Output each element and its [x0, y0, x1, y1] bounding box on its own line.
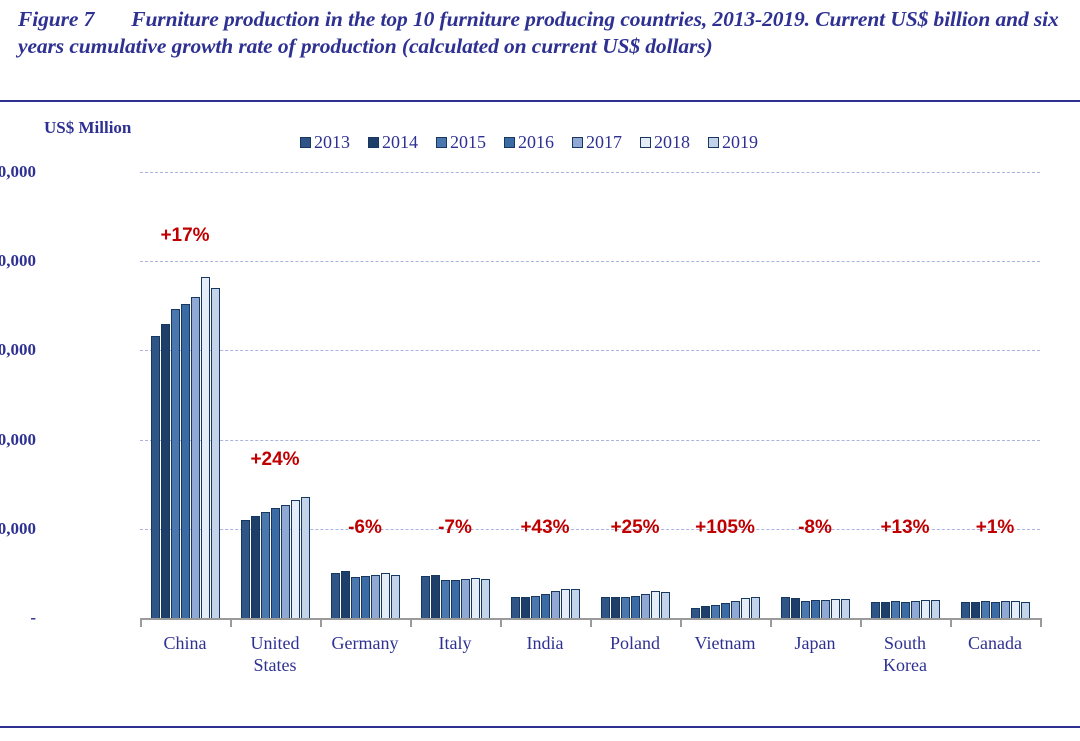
- bar[interactable]: [731, 601, 740, 618]
- x-axis-tick: [500, 618, 502, 627]
- bar[interactable]: [561, 589, 570, 618]
- bar[interactable]: [281, 505, 290, 618]
- legend-label: 2017: [586, 132, 622, 153]
- legend-item-2016[interactable]: 2016: [504, 132, 554, 153]
- legend-swatch-icon-2019: [708, 137, 719, 148]
- growth-rate-label-china: +17%: [160, 225, 209, 247]
- bar[interactable]: [881, 602, 890, 618]
- bar[interactable]: [301, 497, 310, 618]
- bar[interactable]: [621, 597, 630, 618]
- bar[interactable]: [961, 602, 970, 618]
- growth-rate-label-japan: -8%: [798, 517, 832, 539]
- bar[interactable]: [181, 304, 190, 618]
- y-axis-tick-label: -: [0, 608, 36, 628]
- legend-item-2013[interactable]: 2013: [300, 132, 350, 153]
- bar[interactable]: [371, 575, 380, 618]
- bar[interactable]: [441, 580, 450, 618]
- growth-rate-label-united-states: +24%: [250, 449, 299, 471]
- bar[interactable]: [571, 589, 580, 618]
- bar[interactable]: [201, 277, 210, 618]
- bar-group-germany: [320, 172, 410, 618]
- bar[interactable]: [601, 597, 610, 618]
- x-axis-category-label: South Korea: [883, 632, 927, 676]
- legend-label: 2019: [722, 132, 758, 153]
- bar[interactable]: [931, 600, 940, 618]
- legend-item-2017[interactable]: 2017: [572, 132, 622, 153]
- bar[interactable]: [971, 602, 980, 618]
- bar[interactable]: [211, 288, 220, 618]
- bar[interactable]: [361, 576, 370, 618]
- bar[interactable]: [991, 602, 1000, 618]
- x-axis-category-label: China: [164, 632, 207, 654]
- bar[interactable]: [541, 594, 550, 618]
- bar[interactable]: [781, 597, 790, 618]
- legend-label: 2015: [450, 132, 486, 153]
- figure-title-spacer: [94, 7, 131, 31]
- bar[interactable]: [191, 297, 200, 618]
- legend-swatch-icon-2017: [572, 137, 583, 148]
- x-axis-category-label: Japan: [795, 632, 836, 654]
- x-axis-category-label: Canada: [968, 632, 1022, 654]
- x-axis-tick: [320, 618, 322, 627]
- growth-rate-label-vietnam: +105%: [695, 517, 755, 539]
- bar[interactable]: [341, 571, 350, 618]
- y-axis-tick-label: 100,000: [0, 430, 36, 450]
- legend-item-2018[interactable]: 2018: [640, 132, 690, 153]
- bar-group-south-korea: [860, 172, 950, 618]
- figure-title-block: Figure 7 Furniture production in the top…: [18, 6, 1064, 60]
- x-axis-category-label: Italy: [439, 632, 472, 654]
- bar[interactable]: [521, 597, 530, 618]
- bar[interactable]: [261, 512, 270, 618]
- x-axis-tick: [1040, 618, 1042, 627]
- bar[interactable]: [531, 596, 540, 618]
- bar[interactable]: [291, 500, 300, 618]
- legend-label: 2013: [314, 132, 350, 153]
- bar[interactable]: [471, 578, 480, 618]
- bar[interactable]: [631, 596, 640, 618]
- bar[interactable]: [271, 508, 280, 618]
- bar[interactable]: [171, 309, 180, 618]
- y-axis-tick-label: 150,000: [0, 340, 36, 360]
- bar-group-india: [500, 172, 590, 618]
- bar[interactable]: [151, 336, 160, 618]
- legend-swatch-icon-2018: [640, 137, 651, 148]
- y-axis-title: US$ Million: [44, 118, 131, 138]
- growth-rate-label-italy: -7%: [438, 517, 472, 539]
- bar[interactable]: [811, 600, 820, 618]
- legend-swatch-icon-2016: [504, 137, 515, 148]
- bar[interactable]: [651, 591, 660, 618]
- legend-label: 2018: [654, 132, 690, 153]
- bar-group-united-states: [230, 172, 320, 618]
- legend-item-2019[interactable]: 2019: [708, 132, 758, 153]
- bar[interactable]: [391, 575, 400, 618]
- legend-item-2015[interactable]: 2015: [436, 132, 486, 153]
- growth-rate-label-south-korea: +13%: [880, 517, 929, 539]
- bar[interactable]: [661, 592, 670, 618]
- figure-title: Figure 7 Furniture production in the top…: [18, 6, 1064, 60]
- bar[interactable]: [511, 597, 520, 618]
- legend-swatch-icon-2015: [436, 137, 447, 148]
- bar[interactable]: [901, 602, 910, 618]
- bar[interactable]: [421, 576, 430, 618]
- x-axis-tick: [860, 618, 862, 627]
- chart-container: US$ Million 2013201420152016201720182019…: [0, 104, 1080, 722]
- bar[interactable]: [891, 601, 900, 618]
- bar[interactable]: [1021, 602, 1030, 618]
- x-axis-tick: [680, 618, 682, 627]
- growth-rate-label-canada: +1%: [976, 517, 1015, 539]
- title-divider: [0, 100, 1080, 102]
- bar-group-canada: [950, 172, 1040, 618]
- x-axis-tick: [590, 618, 592, 627]
- chart-legend: 2013201420152016201720182019: [300, 132, 758, 153]
- bar-group-italy: [410, 172, 500, 618]
- bar[interactable]: [981, 601, 990, 618]
- bar[interactable]: [711, 605, 720, 618]
- bar[interactable]: [721, 603, 730, 618]
- y-axis-tick-label: 200,000: [0, 251, 36, 271]
- bar[interactable]: [331, 573, 340, 618]
- bar[interactable]: [241, 520, 250, 618]
- x-axis-tick: [410, 618, 412, 627]
- y-axis-tick-label: 50,000: [0, 519, 36, 539]
- bar[interactable]: [911, 601, 920, 618]
- bar[interactable]: [1001, 601, 1010, 618]
- bar[interactable]: [701, 606, 710, 618]
- x-axis-tick: [950, 618, 952, 627]
- legend-label: 2016: [518, 132, 554, 153]
- bar[interactable]: [741, 598, 750, 618]
- bar[interactable]: [831, 599, 840, 618]
- bar[interactable]: [821, 600, 830, 618]
- figure-title-line1: Furniture production in the top 10 furni…: [131, 7, 810, 31]
- x-axis-tick: [140, 618, 142, 627]
- x-axis-category-label: Vietnam: [695, 632, 756, 654]
- bar[interactable]: [251, 516, 260, 618]
- legend-swatch-icon-2013: [300, 137, 311, 148]
- x-axis-tick: [770, 618, 772, 627]
- figure-title-line3: US$ dollars): [602, 34, 713, 58]
- growth-rate-label-poland: +25%: [610, 517, 659, 539]
- legend-swatch-icon-2014: [368, 137, 379, 148]
- bar[interactable]: [1011, 601, 1020, 618]
- bar[interactable]: [641, 594, 650, 618]
- figure-number: Figure 7: [18, 7, 94, 31]
- bar[interactable]: [551, 591, 560, 618]
- x-axis-category-label: Germany: [332, 632, 399, 654]
- bar[interactable]: [871, 602, 880, 618]
- bar[interactable]: [461, 579, 470, 618]
- y-axis-tick-label: 250,000: [0, 162, 36, 182]
- figure-page: Figure 7 Furniture production in the top…: [0, 0, 1080, 741]
- bar[interactable]: [801, 601, 810, 618]
- legend-label: 2014: [382, 132, 418, 153]
- x-axis-category-label: Poland: [610, 632, 660, 654]
- footer-divider: [0, 726, 1080, 728]
- x-axis-tick: [230, 618, 232, 627]
- bar[interactable]: [791, 598, 800, 618]
- bar[interactable]: [381, 573, 390, 618]
- bar[interactable]: [691, 608, 700, 618]
- bar[interactable]: [921, 600, 930, 618]
- bar-group-japan: [770, 172, 860, 618]
- growth-rate-label-germany: -6%: [348, 517, 382, 539]
- x-axis-category-label: India: [527, 632, 564, 654]
- bar-group-poland: [590, 172, 680, 618]
- x-axis-category-label: United States: [251, 632, 300, 676]
- plot-area: [140, 172, 1040, 618]
- bar[interactable]: [841, 599, 850, 618]
- bar[interactable]: [611, 597, 620, 618]
- bar-group-vietnam: [680, 172, 770, 618]
- bar[interactable]: [351, 577, 360, 618]
- bar[interactable]: [451, 580, 460, 618]
- bar[interactable]: [751, 597, 760, 618]
- bar[interactable]: [431, 575, 440, 618]
- bar[interactable]: [481, 579, 490, 618]
- growth-rate-label-india: +43%: [520, 517, 569, 539]
- legend-item-2014[interactable]: 2014: [368, 132, 418, 153]
- bar[interactable]: [161, 324, 170, 618]
